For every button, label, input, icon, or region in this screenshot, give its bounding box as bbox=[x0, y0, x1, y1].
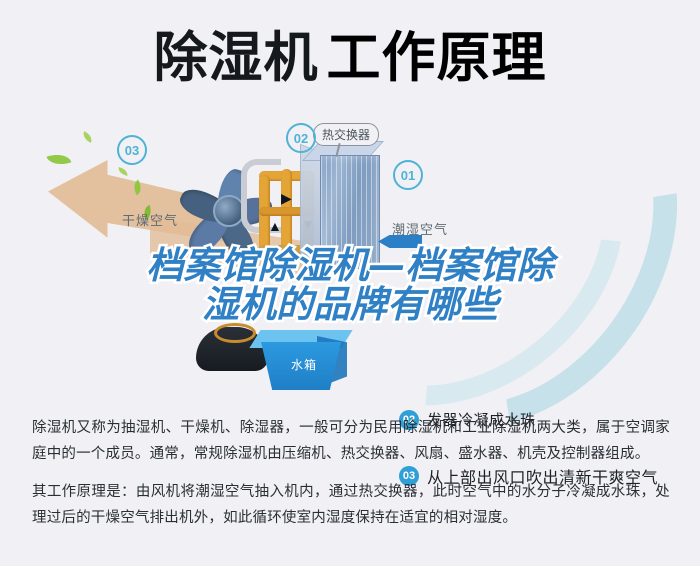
page-root: 除湿机工作原理 ▲ ▼ bbox=[0, 0, 700, 566]
flow-arrow-up-icon: ▲ bbox=[268, 219, 282, 233]
title-part-2: 工作原理 bbox=[327, 26, 547, 89]
article-body: 除湿机又称为抽湿机、干燥机、除湿器，一般可分为民用除湿机和工业除湿机两大类，属于… bbox=[32, 415, 670, 543]
page-title: 除湿机工作原理 bbox=[0, 26, 700, 90]
heat-exchanger-icon bbox=[320, 155, 380, 269]
leaf-icon bbox=[47, 150, 72, 169]
principle-diagram: ▲ ▼ ▶ 热交换器 03 02 01 干燥空气 潮湿空气 水箱 02 发器冷凝… bbox=[0, 115, 700, 405]
flow-arrow-right-icon: ▶ bbox=[281, 191, 292, 205]
water-tank-label: 水箱 bbox=[291, 356, 317, 373]
badge-03: 03 bbox=[117, 135, 147, 165]
badge-01: 01 bbox=[393, 160, 423, 190]
compressor-ring-icon bbox=[214, 323, 256, 343]
leaf-icon bbox=[117, 167, 128, 176]
dry-air-label: 干燥空气 bbox=[122, 210, 178, 229]
badge-02: 02 bbox=[286, 123, 316, 153]
title-part-1: 除湿机 bbox=[154, 26, 319, 89]
moist-air-label: 潮湿空气 bbox=[392, 219, 448, 238]
water-tank-icon: 水箱 bbox=[255, 330, 347, 392]
heat-exchanger-callout: 热交换器 bbox=[313, 123, 379, 146]
body-paragraph-2: 其工作原理是：由风机将潮湿空气抽入机内，通过热交换器，此时空气中的水分子冷凝成水… bbox=[32, 479, 670, 531]
body-paragraph-1: 除湿机又称为抽湿机、干燥机、除湿器，一般可分为民用除湿机和工业除湿机两大类，属于… bbox=[32, 415, 670, 467]
title-text: 除湿机工作原理 bbox=[154, 26, 547, 90]
leaf-icon bbox=[81, 131, 94, 143]
